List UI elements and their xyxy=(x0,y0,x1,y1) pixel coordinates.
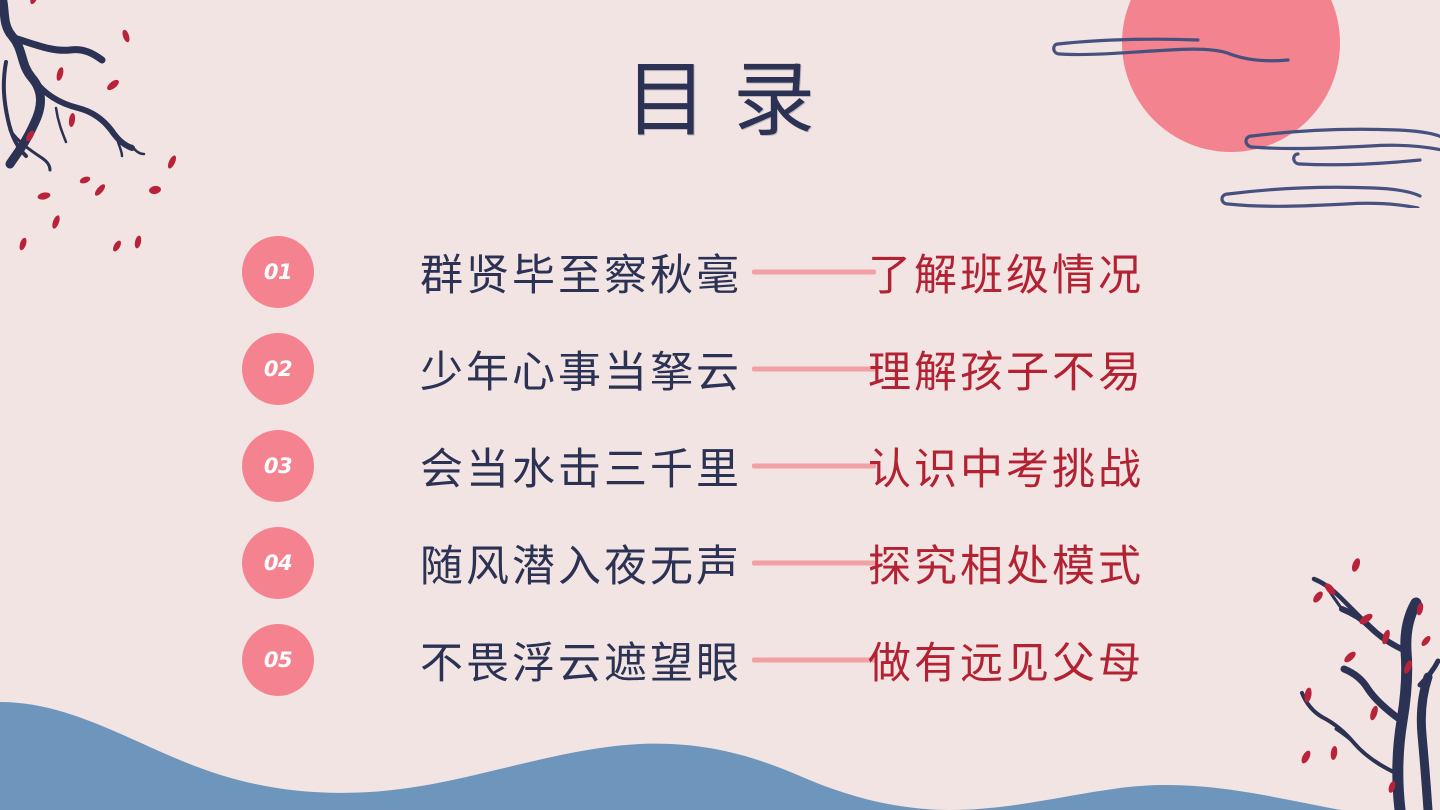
toc-number-badge: 02 xyxy=(242,333,314,405)
toc-item-subtitle: 做有远见父母 xyxy=(868,629,1144,691)
connector-line xyxy=(752,269,876,274)
toc-item-title: 随风潜入夜无声 xyxy=(420,532,742,594)
connector-line xyxy=(752,366,876,371)
toc-item-title: 群贤毕至察秋毫 xyxy=(420,241,742,303)
page-title: 目录 xyxy=(0,58,1440,144)
list-item[interactable]: 02 少年心事当拏云 理解孩子不易 xyxy=(0,320,1440,417)
toc-item-subtitle: 认识中考挑战 xyxy=(868,435,1144,497)
connector-line xyxy=(752,463,876,468)
list-item[interactable]: 05 不畏浮云遮望眼 做有远见父母 xyxy=(0,611,1440,708)
list-item[interactable]: 01 群贤毕至察秋毫 了解班级情况 xyxy=(0,223,1440,320)
toc-item-title: 会当水击三千里 xyxy=(420,435,742,497)
toc-number-badge: 01 xyxy=(242,236,314,308)
toc-list: 01 群贤毕至察秋毫 了解班级情况 02 少年心事当拏云 理解孩子不易 03 会… xyxy=(0,223,1440,708)
list-item[interactable]: 04 随风潜入夜无声 探究相处模式 xyxy=(0,514,1440,611)
toc-number-badge: 05 xyxy=(242,624,314,696)
list-item[interactable]: 03 会当水击三千里 认识中考挑战 xyxy=(0,417,1440,514)
toc-item-subtitle: 探究相处模式 xyxy=(868,532,1144,594)
toc-item-title: 少年心事当拏云 xyxy=(420,338,742,400)
toc-item-subtitle: 了解班级情况 xyxy=(868,241,1144,303)
toc-number-badge: 03 xyxy=(242,430,314,502)
connector-line xyxy=(752,560,876,565)
toc-item-subtitle: 理解孩子不易 xyxy=(868,338,1144,400)
slide-canvas: 目录 01 群贤毕至察秋毫 了解班级情况 02 少年心事当拏云 理解孩子不易 0… xyxy=(0,0,1440,810)
toc-number-badge: 04 xyxy=(242,527,314,599)
connector-line xyxy=(752,657,876,662)
toc-item-title: 不畏浮云遮望眼 xyxy=(420,629,742,691)
